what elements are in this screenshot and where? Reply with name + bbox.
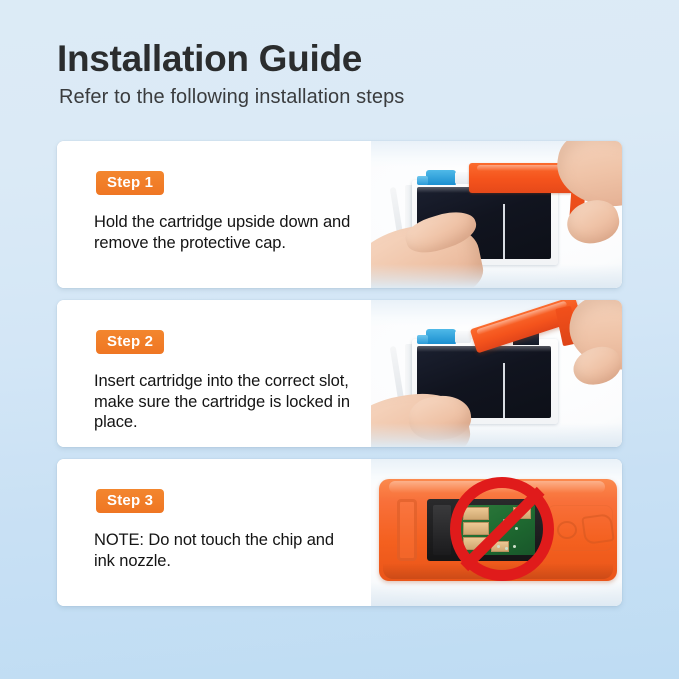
prohibition-icon <box>450 477 554 581</box>
step-2-text-panel: Step 2 Insert cartridge into the correct… <box>57 300 371 447</box>
photo-backdrop-bottom <box>371 582 622 606</box>
step-card-2: Step 2 Insert cartridge into the correct… <box>57 300 622 447</box>
step-3-badge: Step 3 <box>96 489 164 513</box>
step-1-description: Hold the cartridge upside down and remov… <box>94 212 353 253</box>
steps-list: Step 1 Hold the cartridge upside down an… <box>57 141 622 606</box>
step-1-photo <box>371 141 622 288</box>
step-card-1: Step 1 Hold the cartridge upside down an… <box>57 141 622 288</box>
cartridge-vent-hole <box>557 521 577 539</box>
photo-backdrop-bottom <box>371 423 622 447</box>
nozzle-area <box>433 505 451 555</box>
step-3-photo <box>371 459 622 606</box>
step-1-text-panel: Step 1 Hold the cartridge upside down an… <box>57 141 371 288</box>
step-2-description: Insert cartridge into the correct slot, … <box>94 371 353 433</box>
installation-guide-page: Installation Guide Refer to the followin… <box>0 0 679 679</box>
clear-tab <box>455 331 471 343</box>
header: Installation Guide Refer to the followin… <box>57 38 617 110</box>
blue-tab <box>426 170 456 185</box>
step-3-description: NOTE: Do not touch the chip and ink nozz… <box>94 530 353 571</box>
cartridge-tab-strip <box>390 346 405 402</box>
step-card-3: Step 3 NOTE: Do not touch the chip and i… <box>57 459 622 606</box>
step-1-badge: Step 1 <box>96 171 164 195</box>
blue-tab <box>426 329 456 344</box>
step-3-text-panel: Step 3 NOTE: Do not touch the chip and i… <box>57 459 371 606</box>
orange-cartridge-grip <box>397 499 417 561</box>
page-subtitle: Refer to the following installation step… <box>59 84 617 110</box>
photo-backdrop-bottom <box>371 264 622 288</box>
page-title: Installation Guide <box>57 38 617 80</box>
step-2-photo <box>371 300 622 447</box>
cartridge-logo-emboss <box>581 513 615 545</box>
step-2-badge: Step 2 <box>96 330 164 354</box>
